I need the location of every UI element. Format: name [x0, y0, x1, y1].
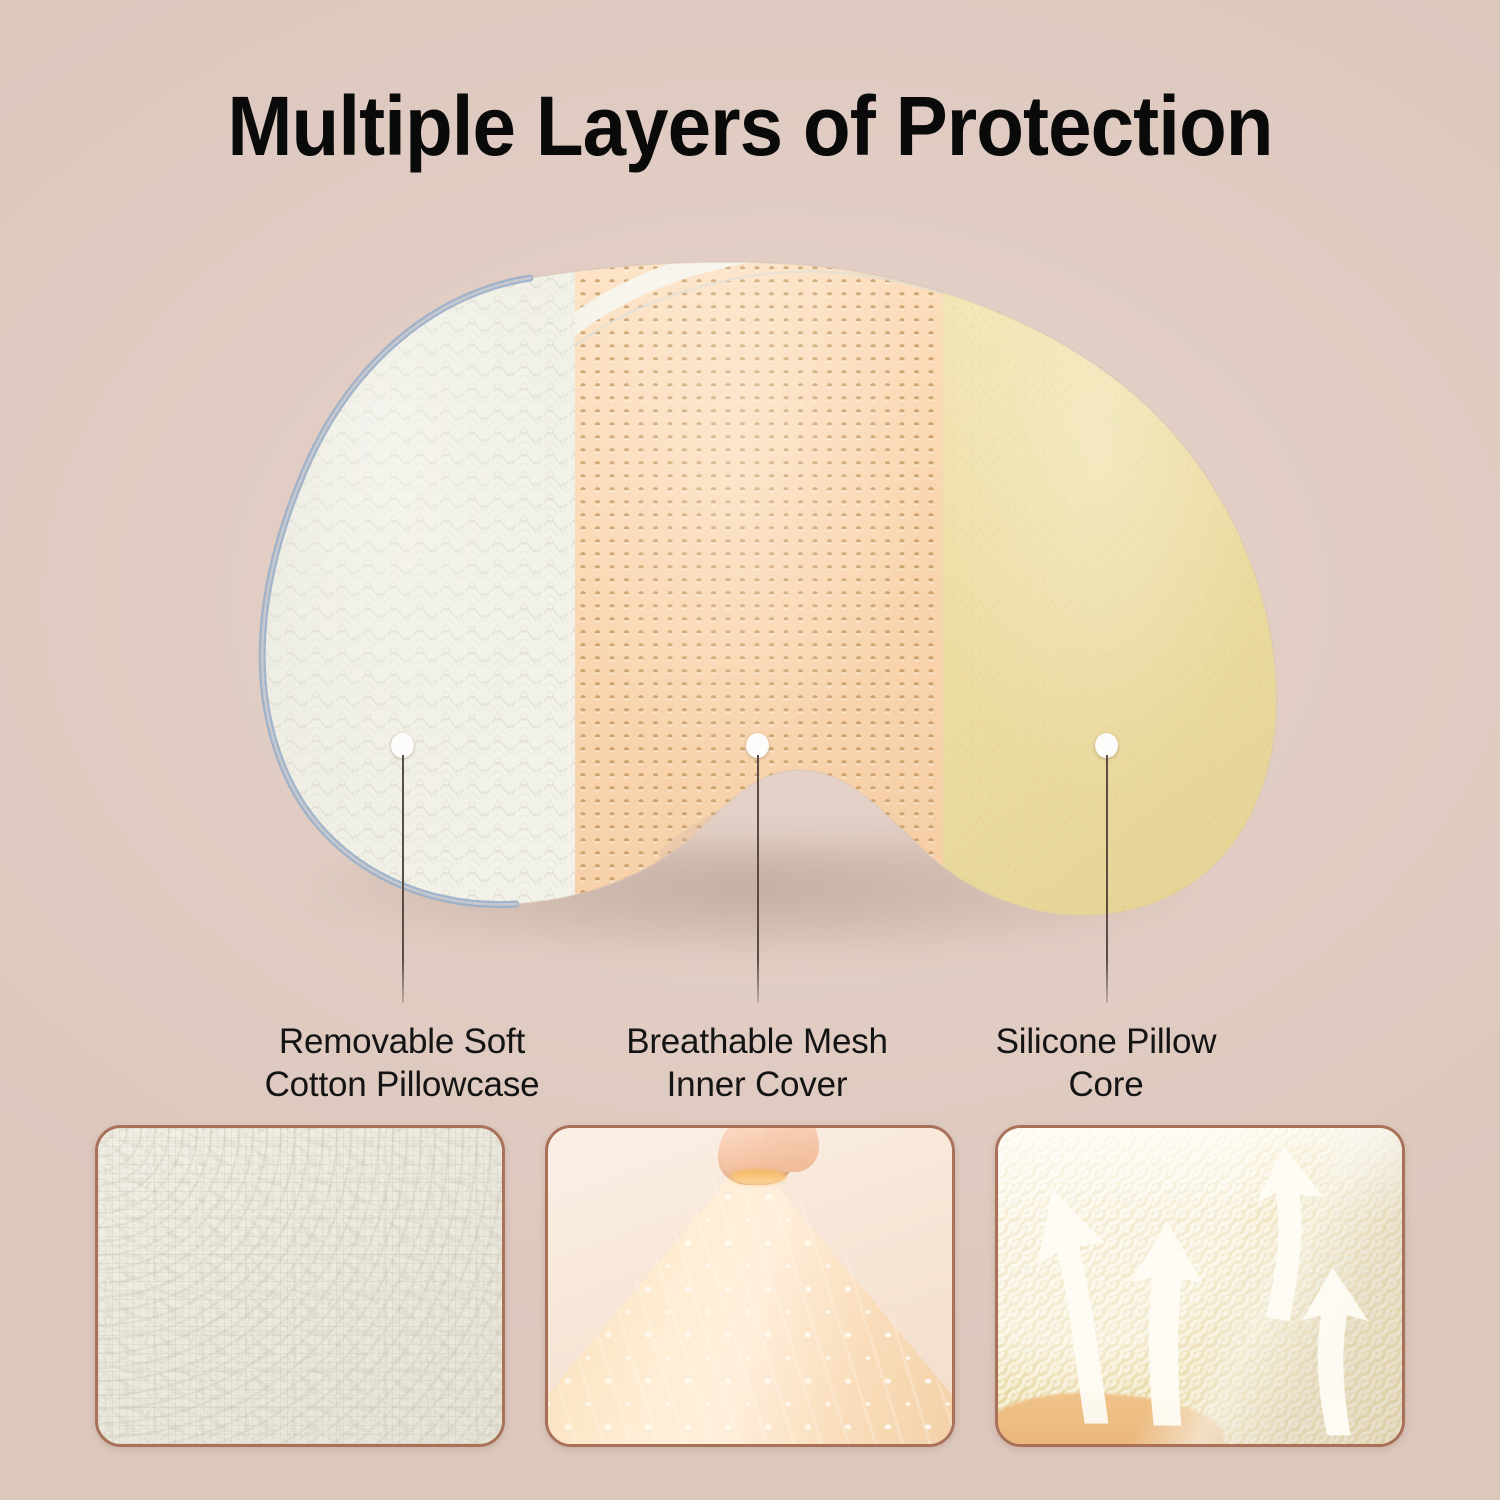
cotton-fabric-texture — [98, 1128, 502, 1444]
page-title: Multiple Layers of Protection — [53, 78, 1448, 175]
thumb-cotton[interactable] — [95, 1125, 505, 1447]
callout-line-foam — [1106, 755, 1108, 1003]
infographic-canvas: Multiple Layers of Protection — [0, 0, 1500, 1500]
airflow-arrows — [998, 1128, 1402, 1445]
thumb-finger-icon — [762, 1125, 819, 1172]
thumb-foam[interactable] — [995, 1125, 1405, 1447]
airflow-arrow-4 — [1301, 1268, 1368, 1436]
callout-line-cotton — [402, 755, 404, 1003]
pillow-cutaway-illustration — [230, 250, 1290, 950]
layer-silicone-foam-core — [943, 250, 1290, 950]
label-foam-line2: Core — [832, 1064, 1380, 1107]
label-foam: Silicone Pillow Core — [832, 1021, 1380, 1106]
callout-line-mesh — [757, 755, 759, 1003]
airflow-arrow-1 — [1037, 1189, 1108, 1424]
label-foam-line1: Silicone Pillow — [832, 1021, 1380, 1064]
thumb-mesh[interactable] — [545, 1125, 955, 1447]
mesh-pinch-point — [730, 1169, 787, 1185]
airflow-arrow-2 — [1130, 1223, 1203, 1426]
airflow-arrow-3 — [1256, 1146, 1323, 1321]
